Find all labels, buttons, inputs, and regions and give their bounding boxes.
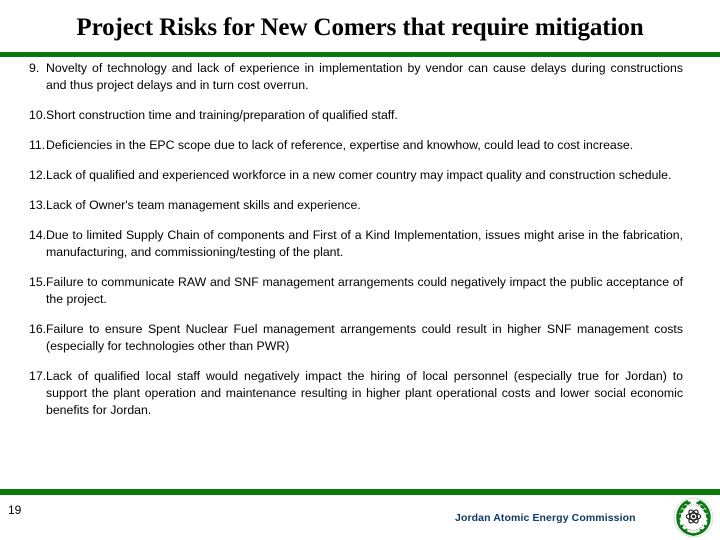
footer-divider-rule — [0, 489, 720, 495]
page-title: Project Risks for New Comers that requir… — [76, 13, 643, 43]
risk-list-item: 9.Novelty of technology and lack of expe… — [0, 60, 720, 94]
slide-title-area: Project Risks for New Comers that requir… — [0, 8, 720, 48]
risk-list-item: 13.Lack of Owner's team management skill… — [0, 197, 720, 214]
risk-item-text: Short construction time and training/pre… — [46, 107, 683, 124]
risk-item-text: Lack of qualified and experienced workfo… — [46, 167, 683, 184]
risk-list-item: 16.Failure to ensure Spent Nuclear Fuel … — [0, 321, 720, 355]
footer-organization-label: Jordan Atomic Energy Commission — [455, 512, 636, 525]
page-number: 19 — [8, 503, 21, 517]
risk-item-number: 13. — [29, 197, 47, 214]
risk-list-item: 10.Short construction time and training/… — [0, 107, 720, 124]
risk-item-number: 12. — [29, 167, 47, 184]
risk-list-item: 15.Failure to communicate RAW and SNF ma… — [0, 274, 720, 308]
risk-list-item: 12.Lack of qualified and experienced wor… — [0, 167, 720, 184]
risk-item-number: 14. — [29, 227, 47, 244]
risk-item-text: Lack of qualified local staff would nega… — [46, 368, 683, 419]
risk-list: 9.Novelty of technology and lack of expe… — [0, 60, 720, 485]
jaec-atom-wreath-logo-icon — [673, 497, 714, 538]
risk-item-text: Failure to communicate RAW and SNF manag… — [46, 274, 683, 308]
risk-item-number: 16. — [29, 321, 47, 338]
risk-list-item: 14.Due to limited Supply Chain of compon… — [0, 227, 720, 261]
risk-item-number: 9. — [29, 60, 47, 77]
title-divider-rule — [0, 52, 720, 57]
slide: Project Risks for New Comers that requir… — [0, 0, 720, 540]
risk-item-number: 11. — [29, 137, 47, 154]
risk-list-item: 11.Deficiencies in the EPC scope due to … — [0, 137, 720, 154]
risk-item-number: 17. — [29, 368, 47, 385]
risk-item-number: 10. — [29, 107, 47, 124]
risk-item-text: Due to limited Supply Chain of component… — [46, 227, 683, 261]
risk-item-number: 15. — [29, 274, 47, 291]
risk-item-text: Lack of Owner's team management skills a… — [46, 197, 683, 214]
risk-item-text: Novelty of technology and lack of experi… — [46, 60, 683, 94]
risk-list-item: 17.Lack of qualified local staff would n… — [0, 368, 720, 419]
risk-item-text: Failure to ensure Spent Nuclear Fuel man… — [46, 321, 683, 355]
risk-item-text: Deficiencies in the EPC scope due to lac… — [46, 137, 683, 154]
